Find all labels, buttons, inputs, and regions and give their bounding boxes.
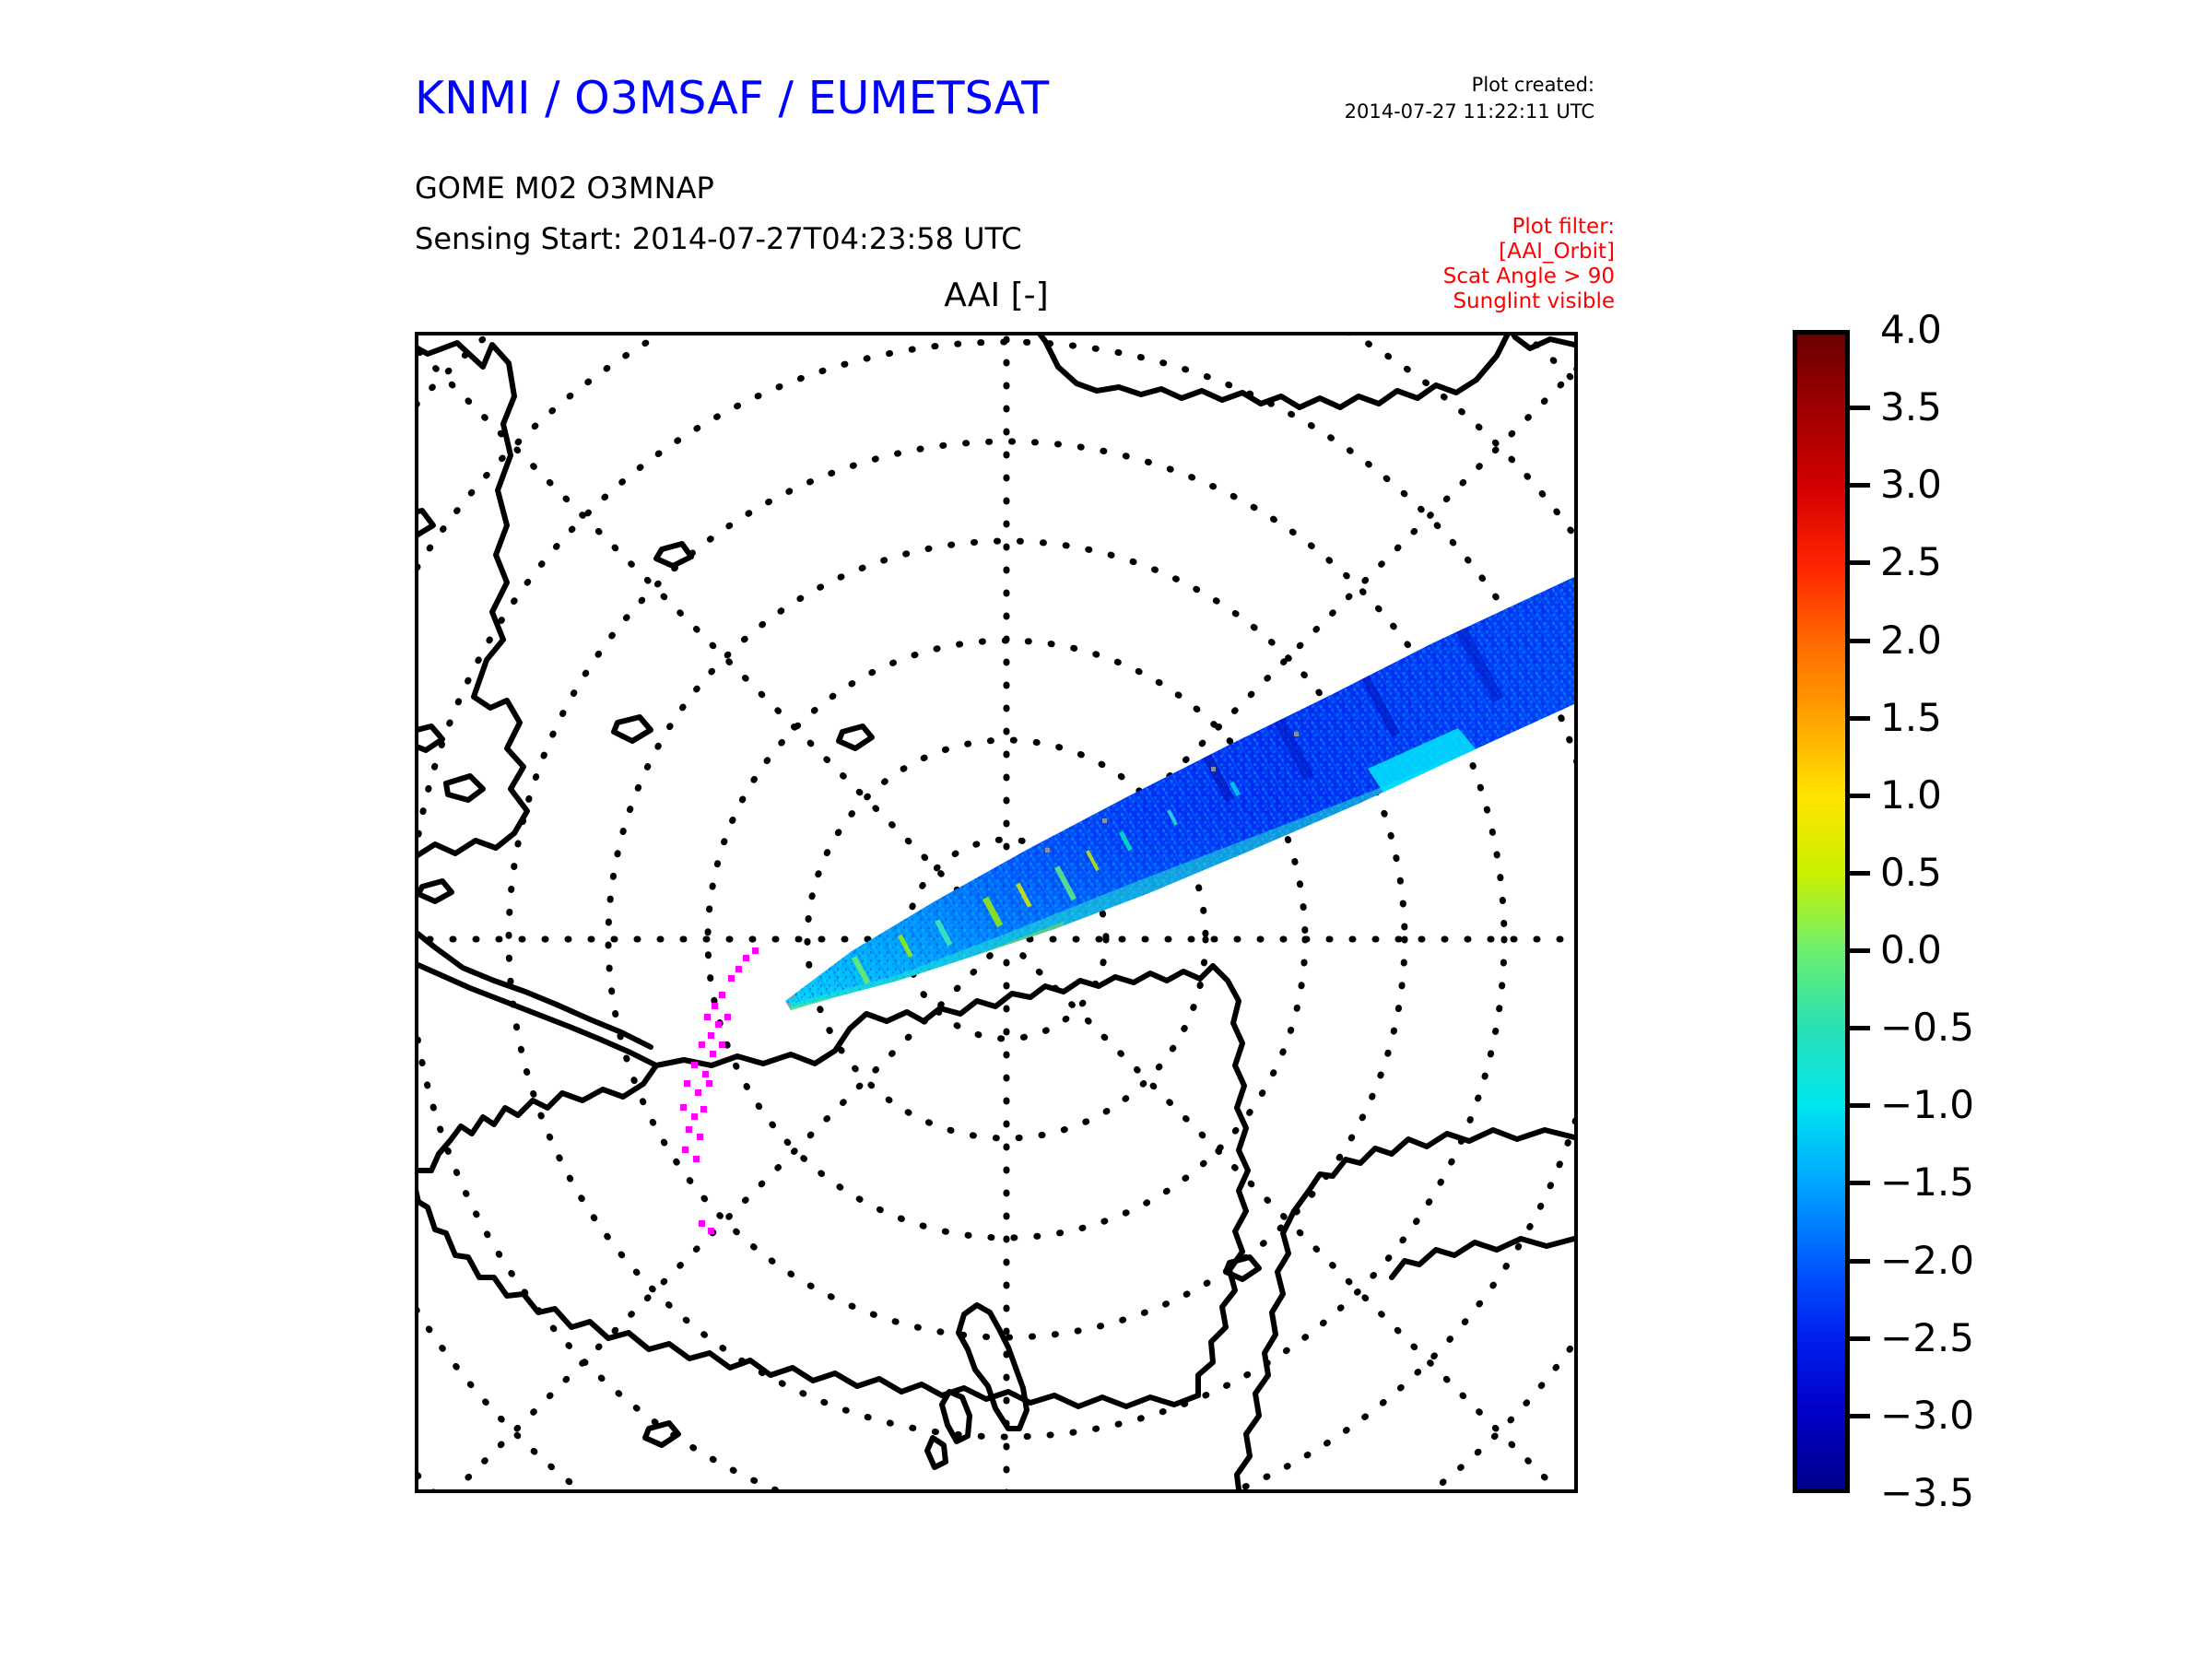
colorbar-tick-label: 3.0 bbox=[1880, 465, 1942, 504]
plot-created-block: Plot created: 2014-07-27 11:22:11 UTC bbox=[1106, 72, 1594, 125]
colorbar-tick-label: 0.5 bbox=[1880, 853, 1942, 892]
colorbar-tick-mark bbox=[1850, 1026, 1870, 1030]
colorbar-tick-mark bbox=[1850, 639, 1870, 643]
sunglint-flag-markers bbox=[680, 947, 759, 1234]
colorbar-tick-label: 0.0 bbox=[1880, 931, 1942, 970]
colorbar-tick-mark bbox=[1850, 1103, 1870, 1108]
colorbar-tick-mark bbox=[1850, 794, 1870, 798]
plot-page: KNMI / O3MSAF / EUMETSAT Plot created: 2… bbox=[0, 0, 2212, 1659]
colorbar-tick-label: 2.0 bbox=[1880, 621, 1942, 660]
colorbar-tick-label: 1.0 bbox=[1880, 776, 1942, 815]
map-plot-area bbox=[415, 332, 1578, 1493]
colorbar-tick-mark bbox=[1850, 1414, 1870, 1418]
colorbar-tick-label: −1.5 bbox=[1880, 1163, 1974, 1202]
colorbar-tick-mark bbox=[1850, 1336, 1870, 1341]
product-name: GOME M02 O3MNAP bbox=[415, 171, 714, 206]
colorbar-tick-mark bbox=[1850, 483, 1870, 488]
colorbar-tick-label: −3.0 bbox=[1880, 1396, 1974, 1435]
colorbar-gradient bbox=[1797, 335, 1845, 1488]
plot-created-label: Plot created: bbox=[1106, 72, 1594, 99]
colorbar-tick-label: 1.5 bbox=[1880, 699, 1942, 737]
colorbar-tick-label: −2.5 bbox=[1880, 1319, 1974, 1358]
colorbar-tick-label: −3.5 bbox=[1880, 1474, 1974, 1512]
colorbar-tick-label: −1.0 bbox=[1880, 1086, 1974, 1124]
organisation-title: KNMI / O3MSAF / EUMETSAT bbox=[415, 72, 1049, 124]
filter-variable: [AAI_Orbit] bbox=[1263, 240, 1615, 265]
colorbar-tick-mark bbox=[1850, 560, 1870, 565]
chart-title: AAI [-] bbox=[415, 276, 1578, 314]
colorbar-tick-mark bbox=[1850, 1259, 1870, 1264]
colorbar-tick-mark bbox=[1850, 871, 1870, 876]
filter-title: Plot filter: bbox=[1263, 215, 1615, 240]
colorbar-tick-mark bbox=[1850, 406, 1870, 410]
colorbar-tick-label: 4.0 bbox=[1880, 311, 1942, 349]
colorbar-tick-mark bbox=[1850, 716, 1870, 721]
colorbar bbox=[1793, 330, 1850, 1493]
satellite-swath bbox=[769, 566, 1574, 1027]
sensing-start: Sensing Start: 2014-07-27T04:23:58 UTC bbox=[415, 221, 1022, 256]
colorbar-tick-mark bbox=[1850, 948, 1870, 953]
colorbar-tick-label: −2.0 bbox=[1880, 1241, 1974, 1280]
colorbar-tick-mark bbox=[1850, 1181, 1870, 1185]
map-canvas bbox=[418, 335, 1574, 1489]
colorbar-tick-label: −0.5 bbox=[1880, 1008, 1974, 1047]
plot-created-time: 2014-07-27 11:22:11 UTC bbox=[1106, 99, 1594, 125]
swath-pixels bbox=[769, 566, 1574, 1027]
colorbar-tick-label: 2.5 bbox=[1880, 543, 1942, 582]
colorbar-tick-label: 3.5 bbox=[1880, 388, 1942, 427]
